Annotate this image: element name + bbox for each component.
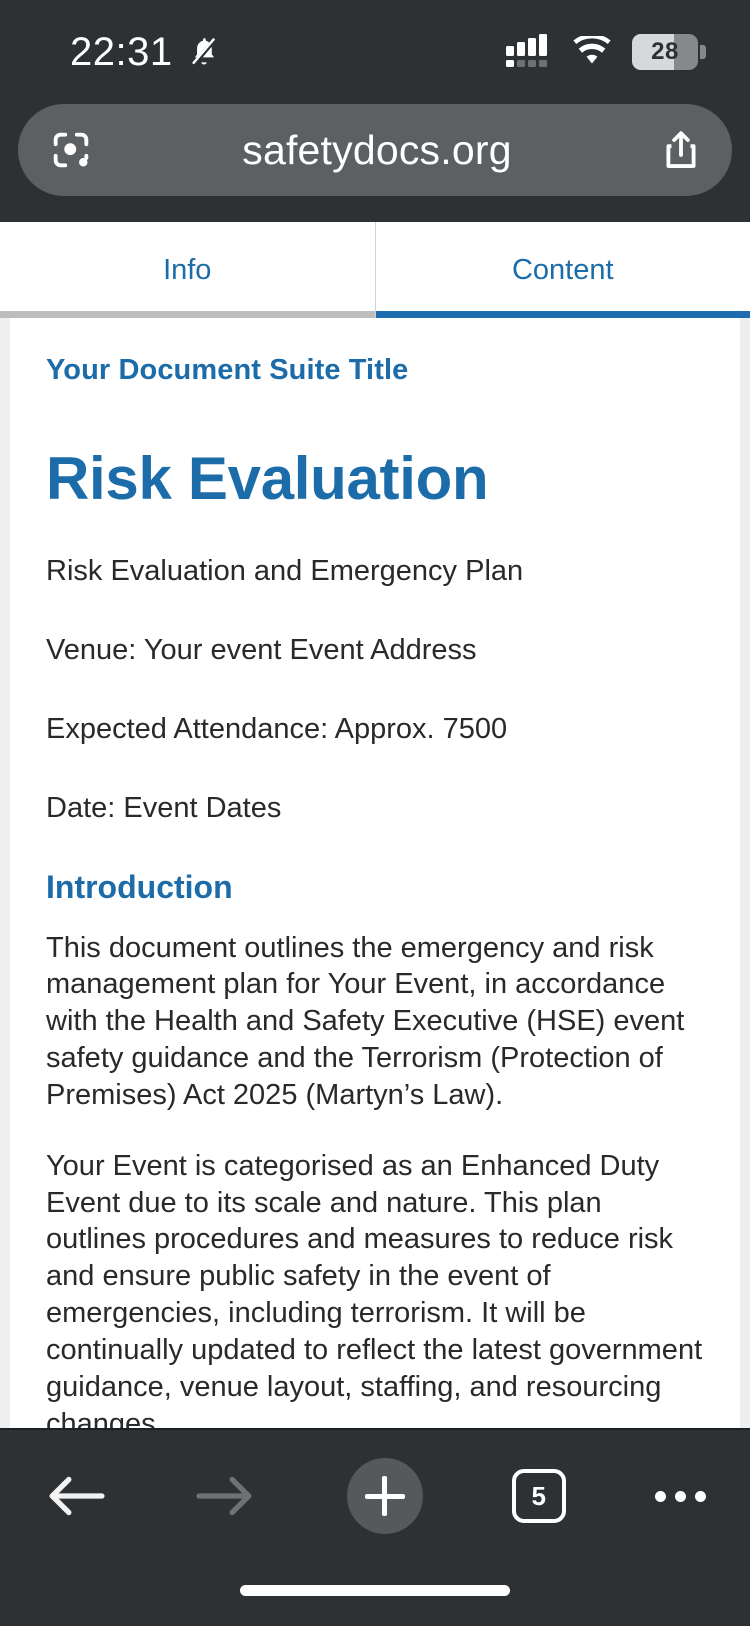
cellular-signal-icon	[506, 34, 552, 70]
tab-counter-button[interactable]: 5	[512, 1469, 566, 1523]
phone-screen: 22:31	[0, 0, 750, 1626]
tab-counter-label: 5	[532, 1481, 546, 1512]
page-title: Risk Evaluation	[46, 447, 704, 510]
section-paragraph: This document outlines the emergency and…	[46, 930, 704, 1114]
page-viewport[interactable]: Your Document Suite Title Risk Evaluatio…	[0, 318, 750, 1428]
document-meta-line: Risk Evaluation and Emergency Plan	[46, 552, 704, 591]
forward-arrow-icon[interactable]	[195, 1472, 257, 1520]
tab-info-underline	[0, 311, 375, 318]
plus-icon	[365, 1476, 405, 1516]
document-suite-title: Your Document Suite Title	[46, 354, 704, 387]
status-bar-right: 28	[506, 34, 706, 70]
new-tab-button[interactable]	[347, 1458, 423, 1534]
camera-search-icon[interactable]	[48, 127, 94, 173]
document-meta-line: Venue: Your event Event Address	[46, 631, 704, 670]
url-text[interactable]: safetydocs.org	[94, 127, 660, 174]
home-indicator	[240, 1585, 510, 1596]
address-bar-container: safetydocs.org	[0, 104, 750, 196]
tab-info-label: Info	[163, 254, 211, 287]
more-options-icon[interactable]	[655, 1491, 706, 1502]
bell-muted-icon	[187, 35, 221, 69]
share-icon[interactable]	[660, 127, 702, 173]
tab-content[interactable]: Content	[376, 222, 750, 318]
status-clock: 22:31	[70, 32, 173, 72]
browser-toolbar: 5	[0, 1428, 750, 1626]
tab-strip: Info Content	[0, 222, 750, 318]
battery-percent-label: 28	[651, 38, 679, 66]
address-bar[interactable]: safetydocs.org	[18, 104, 732, 196]
document-meta-line: Date: Event Dates	[46, 789, 704, 828]
tab-content-underline	[376, 311, 750, 318]
back-arrow-icon[interactable]	[44, 1472, 106, 1520]
status-bar-left: 22:31	[70, 32, 221, 72]
section-heading-introduction: Introduction	[46, 869, 704, 906]
document-meta-line: Expected Attendance: Approx. 7500	[46, 710, 704, 749]
status-bar: 22:31	[0, 0, 750, 104]
document-page: Your Document Suite Title Risk Evaluatio…	[10, 318, 740, 1428]
tab-content-label: Content	[512, 254, 614, 287]
section-paragraph: Your Event is categorised as an Enhanced…	[46, 1148, 704, 1428]
tab-info[interactable]: Info	[0, 222, 376, 318]
wifi-icon	[571, 36, 613, 68]
battery-indicator: 28	[632, 34, 706, 70]
